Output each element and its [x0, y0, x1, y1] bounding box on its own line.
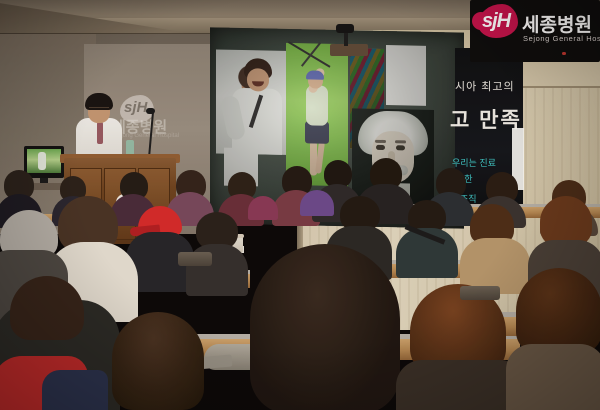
camera-mount-base: [330, 44, 368, 56]
tv-power-led-icon: [562, 52, 566, 55]
audience-body: [300, 190, 334, 216]
chair-back: [460, 286, 500, 300]
camera-icon: [336, 24, 354, 33]
monitor-stand: [40, 178, 48, 183]
wall-logo-english: Sejong General Hospital: [114, 133, 179, 139]
audience-head-foreground: [10, 276, 84, 340]
logo-english-name: Sejong General Hospital: [523, 34, 600, 43]
photograph: sjH 세종병원 Sejong General Hospital: [0, 0, 600, 410]
audience-body-foreground: [506, 344, 600, 410]
logo-korean-name: 세종병원: [522, 10, 592, 37]
audience-head-foreground: [112, 312, 204, 410]
audience-body: [248, 196, 278, 220]
audience-head-foreground: [250, 244, 400, 410]
chair-back: [178, 252, 212, 266]
navy-jacket: [42, 370, 108, 410]
speaker-necktie: [97, 122, 103, 144]
wall-logo-mark: sjH: [124, 99, 147, 116]
eyeglasses-icon: [89, 107, 109, 112]
microphone-icon: [146, 108, 155, 114]
monitor-screen-figure: [38, 152, 46, 170]
banner-line-1: 시아 최고의: [455, 78, 525, 94]
audience-head: [540, 196, 592, 246]
logo-mark: sjH: [482, 10, 510, 33]
audience-head-foreground: [516, 268, 600, 354]
